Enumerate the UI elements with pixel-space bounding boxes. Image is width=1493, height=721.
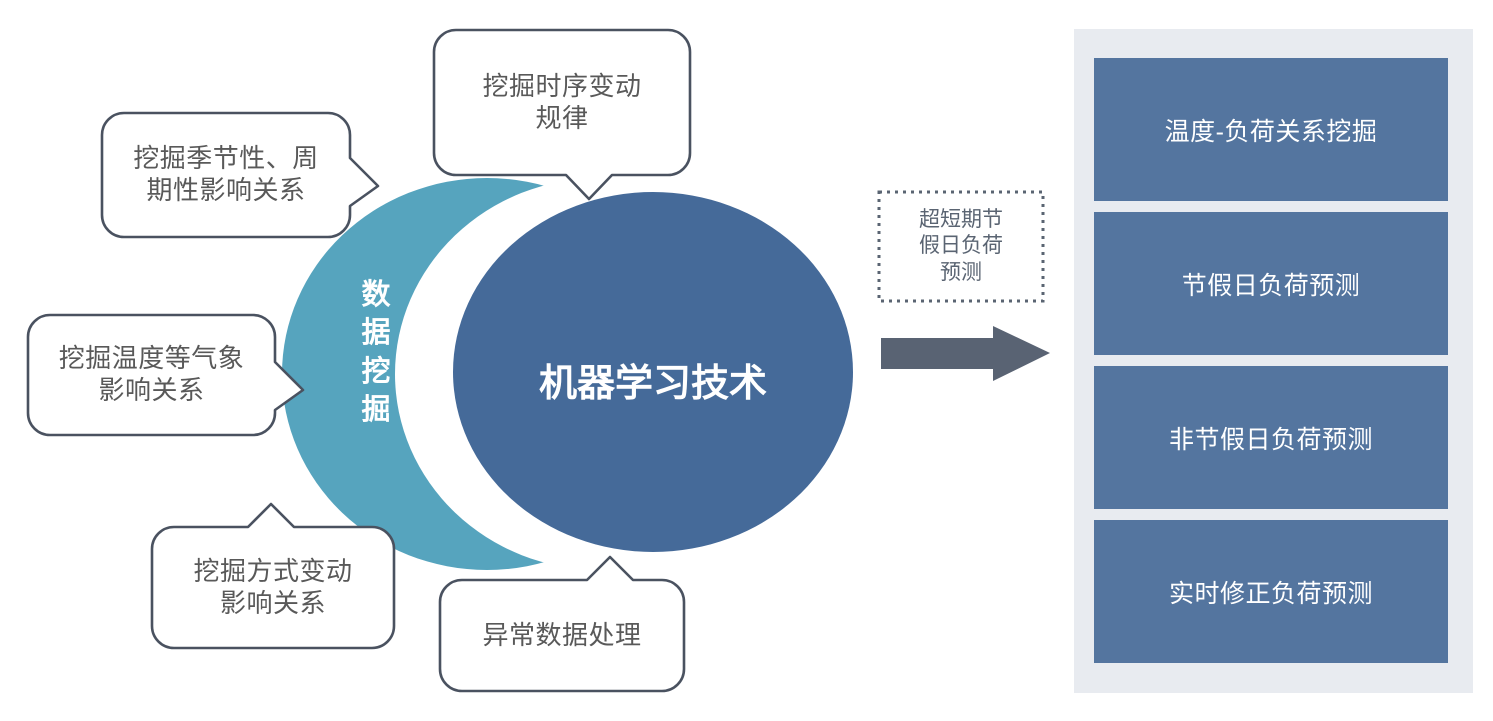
dotted-note-label: 超短期节 假日负荷 预测: [879, 192, 1043, 301]
result-box-label: 实时修正负荷预测: [1169, 574, 1373, 610]
result-box-holiday-forecast[interactable]: 节假日负荷预测: [1094, 212, 1448, 355]
result-box-label: 节假日负荷预测: [1182, 266, 1361, 302]
callout-mining-method-label: 挖掘方式变动 影响关系: [152, 527, 394, 648]
diagram-canvas: 数据 挖掘 机器学习技术 挖掘季节性、周 期性影响关系 挖掘时序变动 规律 挖掘…: [0, 0, 1493, 721]
crescent-label: 数据 挖掘: [356, 276, 396, 429]
result-box-non-holiday-forecast[interactable]: 非节假日负荷预测: [1094, 366, 1448, 509]
result-box-realtime-correction-forecast[interactable]: 实时修正负荷预测: [1094, 520, 1448, 663]
core-ellipse-label: 机器学习技术: [453, 352, 853, 407]
callout-anomaly-label: 异常数据处理: [440, 580, 684, 691]
result-box-label: 非节假日负荷预测: [1169, 420, 1373, 456]
callout-time-series-label: 挖掘时序变动 规律: [434, 30, 690, 175]
callout-seasonality-label: 挖掘季节性、周 期性影响关系: [102, 113, 350, 237]
callout-weather-label: 挖掘温度等气象 影响关系: [28, 315, 275, 435]
result-box-label: 温度-负荷关系挖掘: [1165, 112, 1378, 148]
result-box-temperature-load[interactable]: 温度-负荷关系挖掘: [1094, 58, 1448, 201]
